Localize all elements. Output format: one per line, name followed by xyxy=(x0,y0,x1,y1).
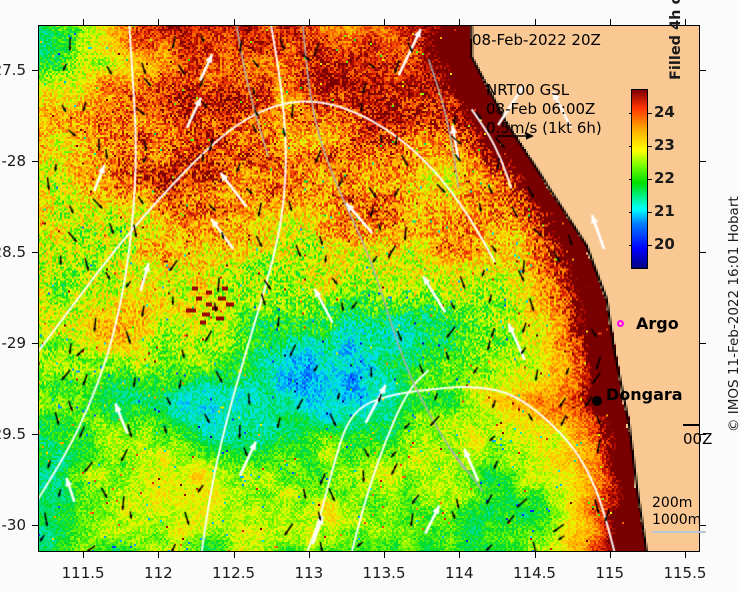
x-axis-tick xyxy=(234,552,235,558)
colorbar-tick-label: 20 xyxy=(654,237,675,252)
product-source-label: NRT00 GSL xyxy=(486,81,602,100)
x-axis-tick-label: 115.5 xyxy=(650,564,720,582)
y-axis-tick xyxy=(32,525,38,526)
colorbar-tick-label: 22 xyxy=(654,171,675,186)
y-axis-tick-right xyxy=(700,525,706,526)
colorbar-title: Filled 4h comp, p50, All Sats xyxy=(668,0,684,80)
x-axis-tick-label: 112 xyxy=(123,564,193,582)
x-axis-tick-label: 111.5 xyxy=(48,564,118,582)
x-axis-tick xyxy=(158,552,159,558)
depth-contour-sample-line xyxy=(652,531,706,533)
x-axis-tick xyxy=(309,552,310,558)
imos-credit-label: © IMOS 11-Feb-2022 16:01 Hobart xyxy=(726,196,740,432)
x-axis-tick-label: 114 xyxy=(424,564,494,582)
x-axis-tick-top xyxy=(234,19,235,25)
y-axis-tick-label: -27.5 xyxy=(0,61,26,79)
y-axis-tick xyxy=(32,70,38,71)
x-axis-tick xyxy=(384,552,385,558)
x-axis-tick xyxy=(685,552,686,558)
colorbar xyxy=(631,89,648,269)
map-date-title: 08-Feb-2022 20Z xyxy=(472,31,601,49)
y-axis-tick-right xyxy=(700,434,706,435)
y-axis-tick-label: -29.5 xyxy=(0,425,26,443)
y-axis-tick-label: -28.5 xyxy=(0,243,26,261)
x-axis-tick-top xyxy=(610,19,611,25)
colorbar-tick-label: 21 xyxy=(654,204,675,219)
x-axis-tick-top xyxy=(459,19,460,25)
colorbar-tick-label: 23 xyxy=(654,138,675,153)
x-axis-tick xyxy=(459,552,460,558)
colorbar-gradient xyxy=(631,89,648,269)
y-axis-tick-label: -30 xyxy=(0,516,26,534)
sst-map-figure: 08-Feb-2022 20Z NRT00 GSL 08-Feb 06:00Z … xyxy=(0,0,740,592)
y-axis-tick xyxy=(32,343,38,344)
colorbar-minor-tick xyxy=(629,245,632,246)
y-axis-tick xyxy=(32,161,38,162)
x-axis-tick-label: 114.5 xyxy=(500,564,570,582)
argo-marker-label: Argo xyxy=(636,314,679,333)
argo-marker-icon[interactable] xyxy=(617,320,624,327)
x-axis-tick-label: 112.5 xyxy=(199,564,269,582)
x-axis-tick xyxy=(83,552,84,558)
x-axis-tick-label: 113 xyxy=(274,564,344,582)
depth-200m-label: 200m xyxy=(652,495,701,512)
depth-contour-legend: 200m 1000m xyxy=(652,495,701,529)
product-time-label: 08-Feb 06:00Z xyxy=(486,100,602,119)
x-axis-tick-top xyxy=(685,19,686,25)
colorbar-tick xyxy=(648,179,652,180)
y-axis-tick-label: -29 xyxy=(0,334,26,352)
y-axis-tick xyxy=(32,252,38,253)
y-axis-tick-right xyxy=(700,161,706,162)
y-axis-tick xyxy=(32,434,38,435)
x-axis-tick xyxy=(610,552,611,558)
y-axis-tick-right xyxy=(700,343,706,344)
colorbar-minor-tick xyxy=(629,113,632,114)
colorbar-tick xyxy=(648,245,652,246)
x-axis-tick-top xyxy=(309,19,310,25)
dongara-marker-label: Dongara xyxy=(606,385,683,404)
x-axis-tick-label: 115 xyxy=(575,564,645,582)
colorbar-tick-label: 24 xyxy=(654,105,675,120)
colorbar-minor-tick xyxy=(629,179,632,180)
colorbar-tick xyxy=(648,212,652,213)
x-axis-tick-top xyxy=(535,19,536,25)
colorbar-minor-tick xyxy=(629,146,632,147)
dongara-marker-icon[interactable] xyxy=(592,396,602,406)
x-axis-tick-top xyxy=(158,19,159,25)
clipped-time-label: 00Z xyxy=(683,430,712,448)
x-axis-tick-top xyxy=(83,19,84,25)
colorbar-tick xyxy=(648,146,652,147)
y-axis-tick-right xyxy=(700,252,706,253)
reference-arrow-icon xyxy=(496,128,536,142)
x-axis-tick-label: 113.5 xyxy=(349,564,419,582)
colorbar-tick xyxy=(648,113,652,114)
x-axis-tick-top xyxy=(384,19,385,25)
clipped-text-rule xyxy=(683,424,700,426)
y-axis-tick-right xyxy=(700,70,706,71)
y-axis-tick-label: -28 xyxy=(0,152,26,170)
x-axis-tick xyxy=(535,552,536,558)
depth-1000m-label: 1000m xyxy=(652,512,701,529)
colorbar-minor-tick xyxy=(629,212,632,213)
